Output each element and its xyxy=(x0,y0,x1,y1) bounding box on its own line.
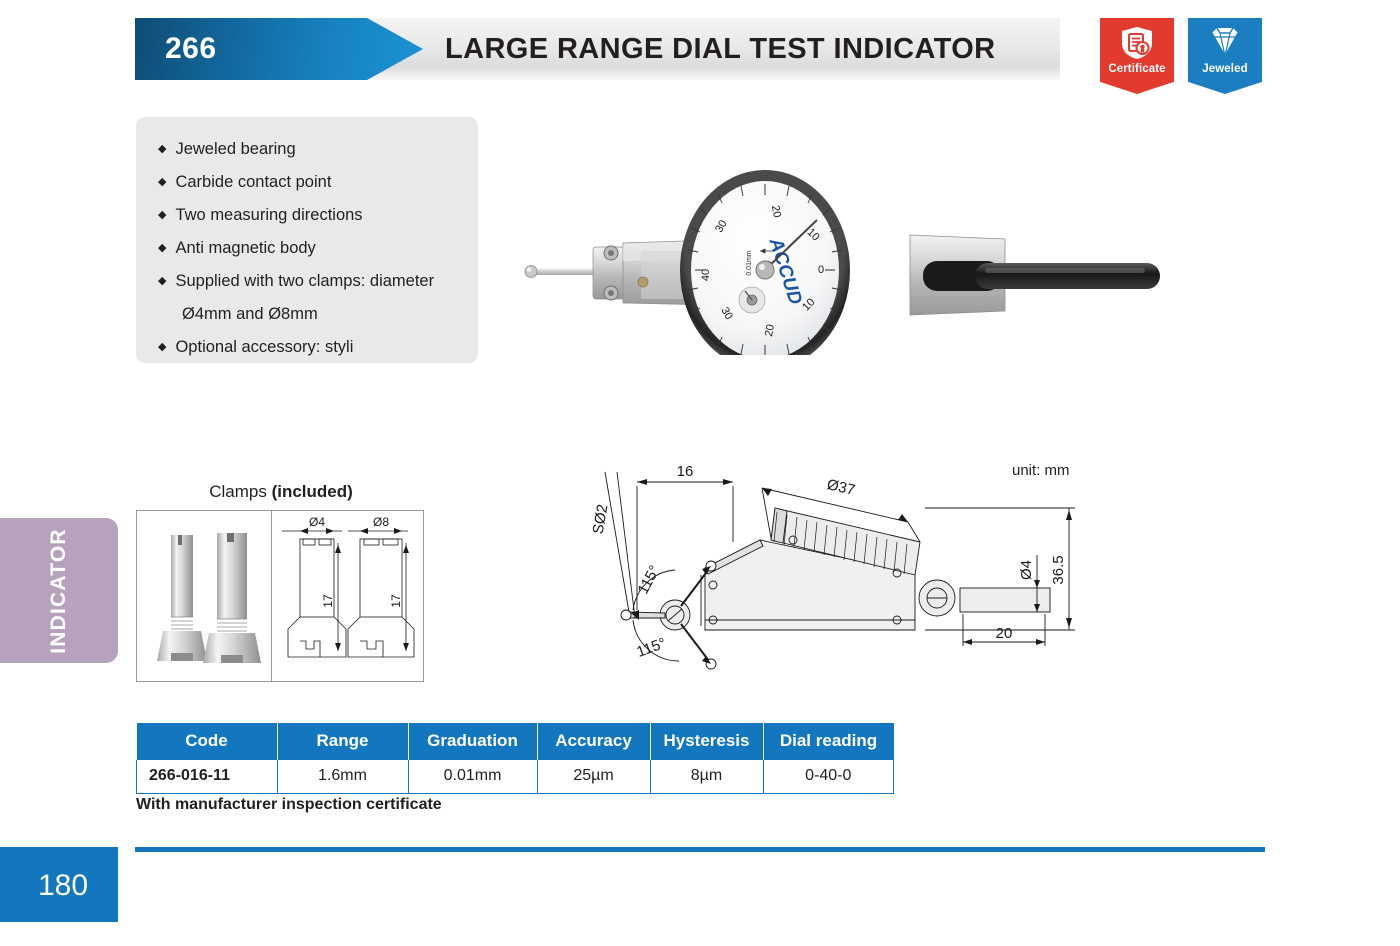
shank-rod xyxy=(975,263,1160,289)
feature-label: Carbide contact point xyxy=(175,166,331,199)
feature-label: Jeweled bearing xyxy=(175,133,295,166)
clamp-small xyxy=(157,535,207,661)
clamp-dim-d8: Ø8 xyxy=(373,515,389,529)
feature-label: Two measuring directions xyxy=(175,199,362,232)
table-header-row: Code Range Graduation Accuracy Hysteresi… xyxy=(137,723,894,760)
product-photo: 0 10 20 30 40 30 20 10 0.01mm ACCUD xyxy=(505,165,1185,355)
page-header: 266 LARGE RANGE DIAL TEST INDICATOR xyxy=(135,18,1060,80)
catalog-page: 266 LARGE RANGE DIAL TEST INDICATOR Cert… xyxy=(0,0,1400,946)
page-number-box: 180 xyxy=(0,847,118,922)
bullet-diamond-icon: ◆ xyxy=(158,265,166,298)
page-title: LARGE RANGE DIAL TEST INDICATOR xyxy=(445,18,996,80)
feature-item: ◆ Jeweled bearing xyxy=(158,133,460,166)
table-header-code: Code xyxy=(137,723,278,760)
feature-label: Supplied with two clamps: diameter xyxy=(175,265,434,298)
product-series-code: 266 xyxy=(165,18,217,80)
clamp-dim-d4: Ø4 xyxy=(309,515,325,529)
table-header-accuracy: Accuracy xyxy=(537,723,650,760)
bullet-diamond-icon: ◆ xyxy=(158,232,166,265)
table-header-graduation: Graduation xyxy=(408,723,537,760)
clamps-title: Clamps (included) xyxy=(136,482,426,502)
feature-label: Anti magnetic body xyxy=(175,232,315,265)
bullet-diamond-icon: ◆ xyxy=(158,199,166,232)
feature-item: ◆ Optional accessory: styli xyxy=(158,331,460,364)
badge-jeweled-label: Jeweled xyxy=(1202,63,1247,75)
feature-item: ◆ Carbide contact point xyxy=(158,166,460,199)
clamp-dim-height-right: 17 xyxy=(389,594,403,608)
specification-table: Code Range Graduation Accuracy Hysteresi… xyxy=(136,723,894,794)
dim-dial-diameter: Ø37 xyxy=(825,476,856,499)
dial-number: 20 xyxy=(769,204,783,218)
dial-graduation-label: 0.01mm xyxy=(746,250,753,275)
clamps-title-plain: Clamps xyxy=(209,482,271,501)
table-row[interactable]: 266-016-11 1.6mm 0.01mm 25µm 8µm 0-40-0 xyxy=(137,760,894,794)
dial-number: 20 xyxy=(763,323,777,337)
feature-list: ◆ Jeweled bearing ◆ Carbide contact poin… xyxy=(136,117,478,363)
bullet-diamond-icon: ◆ xyxy=(158,166,166,199)
revolution-counter xyxy=(739,287,765,313)
cell-graduation: 0.01mm xyxy=(408,760,537,794)
footer-rule xyxy=(135,847,1265,852)
clamps-dimension-drawing: Ø4 Ø8 17 17 xyxy=(272,511,423,681)
dim-angle-top: 115° xyxy=(634,563,663,597)
sidebar-tab-label: INDICATOR xyxy=(47,528,71,654)
clamp-large xyxy=(203,533,261,663)
stylus xyxy=(525,266,597,278)
cell-dial-reading: 0-40-0 xyxy=(763,760,894,794)
cell-accuracy: 25µm xyxy=(537,760,650,794)
feature-item-continuation: Ø4mm and Ø8mm xyxy=(158,298,460,331)
diamond-icon xyxy=(1205,25,1245,61)
badge-certificate: Certificate xyxy=(1100,18,1174,94)
dim-ball-diameter: SØ2 xyxy=(590,503,612,536)
feature-label: Ø4mm and Ø8mm xyxy=(182,298,318,331)
certificate-shield-icon xyxy=(1117,25,1157,61)
badge-certificate-label: Certificate xyxy=(1108,63,1165,75)
clamps-photo xyxy=(137,511,271,681)
feature-item: ◆ Anti magnetic body xyxy=(158,232,460,265)
table-header-dial-reading: Dial reading xyxy=(763,723,894,760)
table-header-range: Range xyxy=(277,723,408,760)
badge-jeweled: Jeweled xyxy=(1188,18,1262,94)
clamp-dim-height-left: 17 xyxy=(321,594,335,608)
bullet-diamond-icon: ◆ xyxy=(158,133,166,166)
page-number: 180 xyxy=(38,869,88,903)
feature-label: Optional accessory: styli xyxy=(175,331,353,364)
feature-item: ◆ Supplied with two clamps: diameter xyxy=(158,265,460,298)
feature-badges: Certificate Jeweled xyxy=(1100,18,1262,94)
bullet-diamond-icon: ◆ xyxy=(158,331,166,364)
cell-code: 266-016-11 xyxy=(137,760,278,794)
dial-number: 0 xyxy=(818,264,824,276)
cell-range: 1.6mm xyxy=(277,760,408,794)
dim-shank-length: 20 xyxy=(996,625,1013,642)
feature-item: ◆ Two measuring directions xyxy=(158,199,460,232)
certificate-note: With manufacturer inspection certificate xyxy=(136,796,442,814)
clamps-title-bold: (included) xyxy=(272,482,353,501)
dim-stem-length: 16 xyxy=(677,463,694,480)
sidebar-tab-indicator[interactable]: INDICATOR xyxy=(0,518,118,663)
dim-overall-height: 36.5 xyxy=(1050,555,1067,584)
drawing-unit-label: unit: mm xyxy=(1012,462,1070,479)
header-code-chevron: 266 xyxy=(135,18,423,80)
dial-number: 40 xyxy=(700,269,712,281)
dim-shank-diameter: Ø4 xyxy=(1018,560,1035,580)
dial-gauge: 0 10 20 30 40 30 20 10 0.01mm ACCUD xyxy=(680,170,850,355)
cell-hysteresis: 8µm xyxy=(650,760,763,794)
table-header-hysteresis: Hysteresis xyxy=(650,723,763,760)
